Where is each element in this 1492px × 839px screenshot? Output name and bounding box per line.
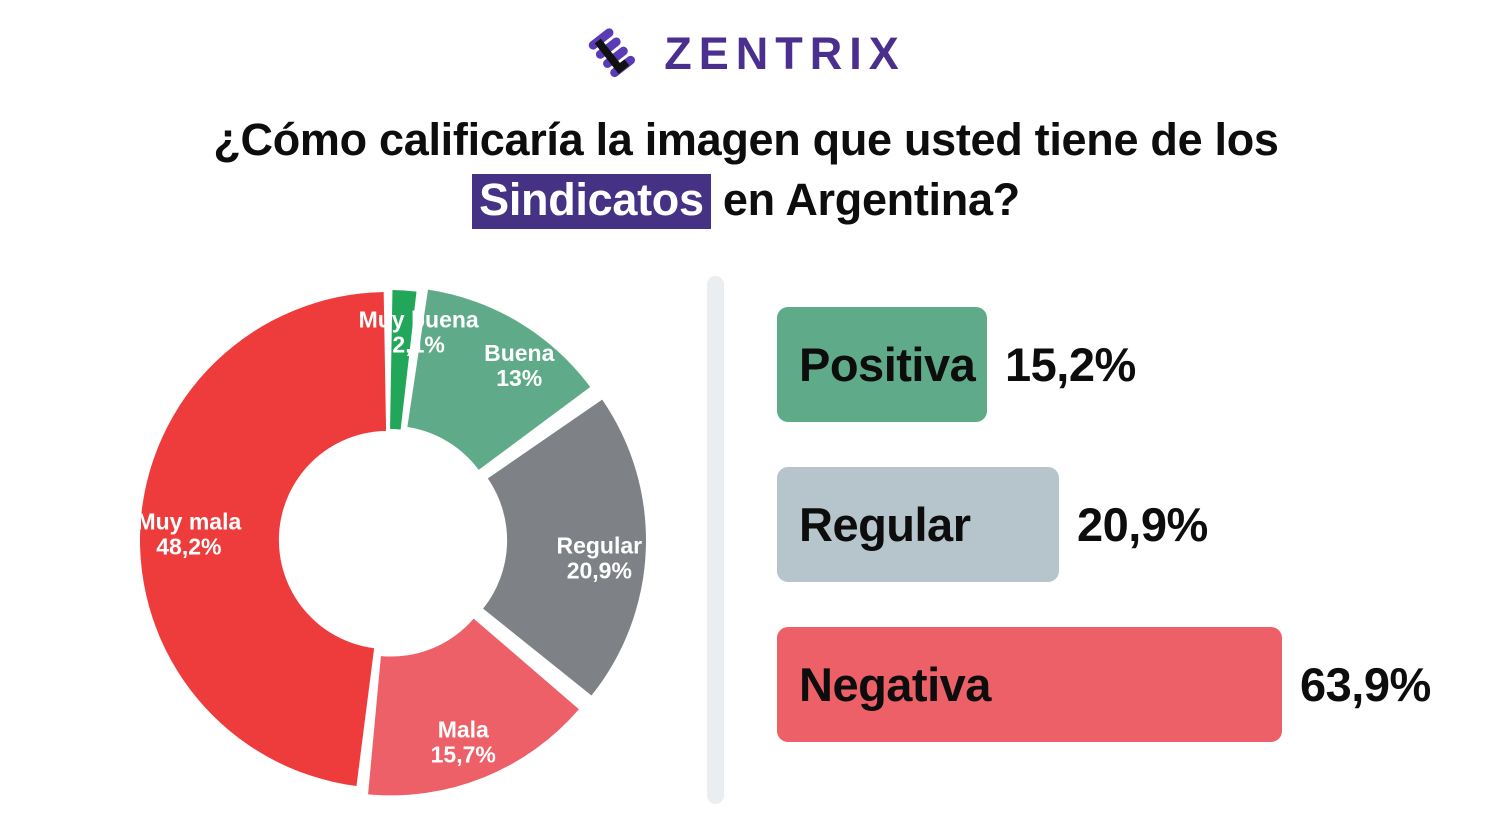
summary-bar-chart: Positiva 15,2% Regular 20,9% Negativa 63… bbox=[777, 302, 1477, 782]
bar-label-positiva: Positiva bbox=[799, 337, 975, 392]
title-line-1: ¿Cómo calificaría la imagen que usted ti… bbox=[0, 110, 1492, 170]
bar-row-positiva: Positiva 15,2% bbox=[777, 307, 1136, 422]
bar-row-regular: Regular 20,9% bbox=[777, 467, 1208, 582]
bar-regular: Regular bbox=[777, 467, 1059, 582]
bar-value-positiva: 15,2% bbox=[1005, 337, 1136, 392]
chart-content: Muy buena2,1%Buena13%Regular20,9%Mala15,… bbox=[0, 262, 1492, 822]
bar-label-regular: Regular bbox=[799, 497, 971, 552]
donut-chart-svg: Muy buena2,1%Buena13%Regular20,9%Mala15,… bbox=[120, 270, 680, 810]
bar-row-negativa: Negativa 63,9% bbox=[777, 627, 1431, 742]
donut-chart: Muy buena2,1%Buena13%Regular20,9%Mala15,… bbox=[120, 270, 680, 810]
bar-positiva: Positiva bbox=[777, 307, 987, 422]
brand-header: ZENTRIX bbox=[0, 18, 1492, 88]
title-line-2-tail: en Argentina? bbox=[711, 174, 1020, 225]
bar-negativa: Negativa bbox=[777, 627, 1282, 742]
title-line-2: Sindicatos en Argentina? bbox=[0, 170, 1492, 230]
page-title: ¿Cómo calificaría la imagen que usted ti… bbox=[0, 110, 1492, 230]
bar-value-regular: 20,9% bbox=[1077, 497, 1208, 552]
donut-label-mala: Mala15,7% bbox=[431, 716, 496, 767]
title-highlight-sindicatos: Sindicatos bbox=[472, 174, 711, 229]
section-divider bbox=[707, 276, 724, 804]
zentrix-z-logo-icon bbox=[586, 22, 648, 84]
bar-value-negativa: 63,9% bbox=[1300, 657, 1431, 712]
bar-label-negativa: Negativa bbox=[799, 657, 991, 712]
donut-label-regular: Regular20,9% bbox=[556, 532, 642, 583]
brand-name: ZENTRIX bbox=[664, 31, 906, 76]
